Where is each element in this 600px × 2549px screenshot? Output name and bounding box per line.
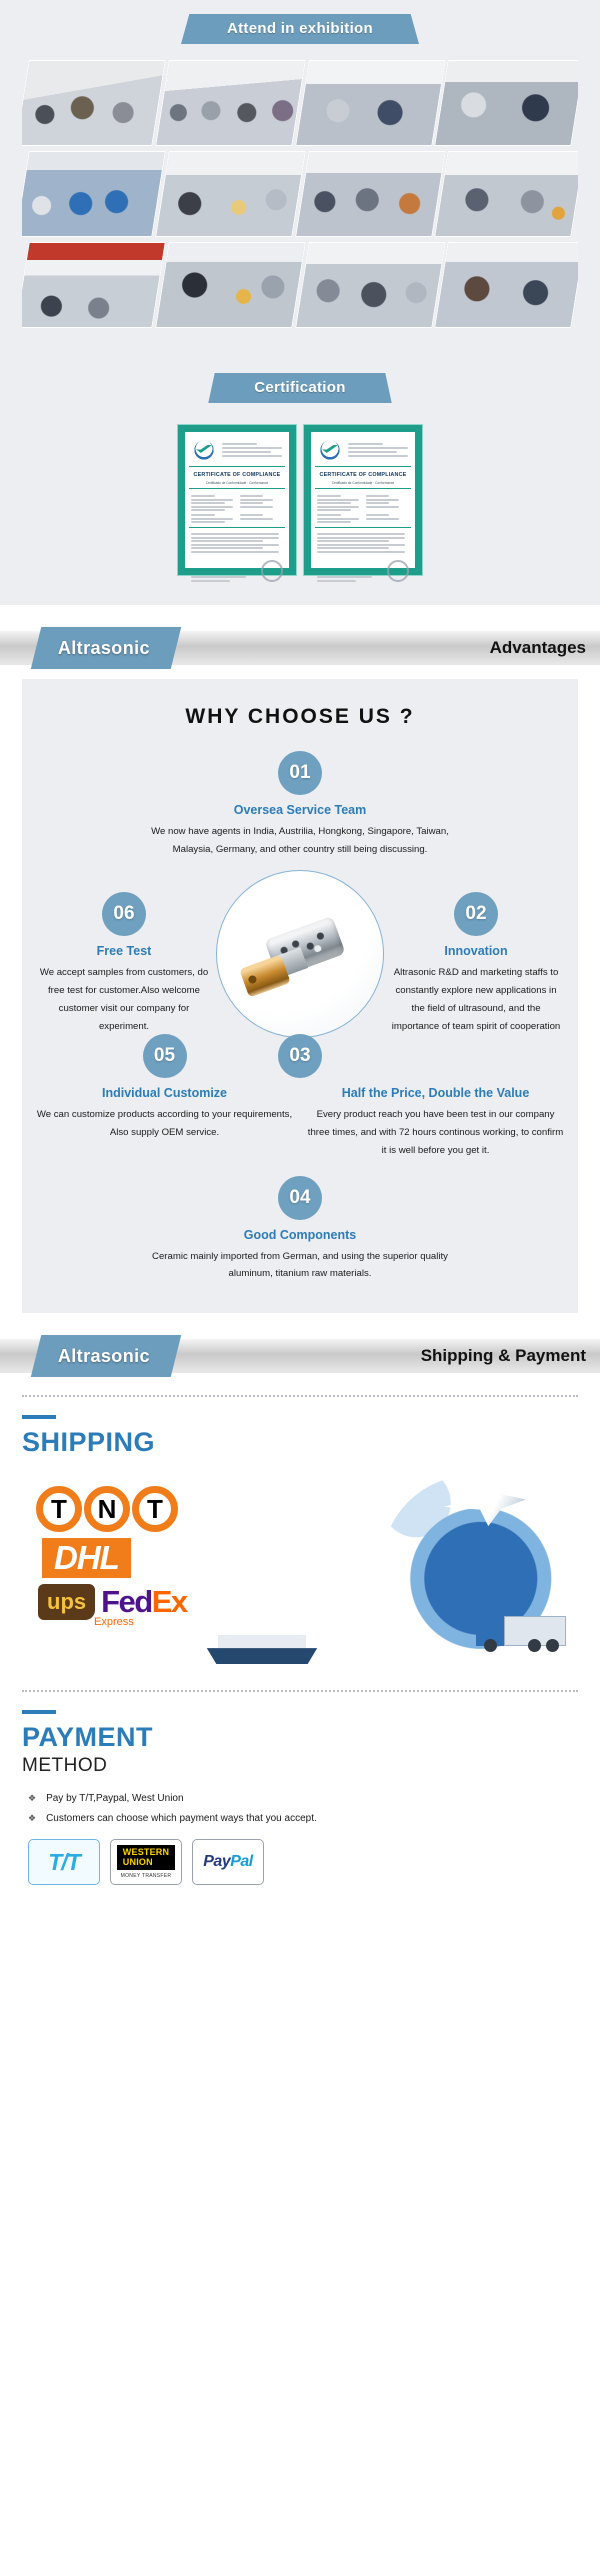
- ups-logo: ups: [38, 1584, 95, 1620]
- certification-section: Certification: [0, 359, 600, 403]
- product-image-circle: [216, 870, 384, 1038]
- feature-01: 01 Oversea Service Team We now have agen…: [150, 751, 450, 858]
- exhibition-photo: [295, 151, 445, 237]
- exhibition-photo: [295, 242, 445, 328]
- payment-bullets: ❖ Pay by T/T,Paypal, West Union ❖ Custom…: [28, 1789, 578, 1829]
- why-choose-us-panel: WHY CHOOSE US ? 01 Oversea Service Team …: [22, 679, 578, 1313]
- shipping-payment-section-header: Altrasonic Shipping & Payment: [0, 1339, 600, 1373]
- payment-bullet-text: Pay by T/T,Paypal, West Union: [46, 1789, 183, 1809]
- certificate-title: CERTIFICATE OF COMPLIANCE: [315, 469, 411, 479]
- certificate-header: [189, 437, 285, 467]
- feature-description: We accept samples from customers, do fre…: [36, 964, 212, 1035]
- payment-method-logos: T/T WESTERN UNION MONEY TRANSFER PayPal: [28, 1839, 578, 1885]
- certificate-fields: [315, 491, 411, 528]
- ce-seal-icon: [189, 437, 219, 463]
- certification-banner: Certification: [0, 373, 600, 403]
- exhibition-photo: [22, 151, 166, 237]
- features-middle-row: 06 Free Test We accept samples from cust…: [36, 864, 564, 1038]
- western-union-line2: UNION: [123, 1858, 169, 1867]
- feature-02: 02 Innovation Altrasonic R&D and marketi…: [388, 864, 564, 1035]
- fedex-text-b: Ex: [152, 1584, 187, 1619]
- exhibition-photo: [155, 60, 305, 146]
- paypal-text-a: Pay: [203, 1853, 230, 1870]
- feature-03-badge-wrap: 03: [36, 1034, 564, 1078]
- exhibition-photo: [434, 242, 578, 328]
- certificate-footer: [189, 558, 285, 584]
- feature-description: We now have agents in India, Austrilia, …: [150, 823, 450, 858]
- certificate-gallery: CERTIFICATE OF COMPLIANCE Certificado de…: [0, 403, 600, 605]
- payment-logo-western-union: WESTERN UNION MONEY TRANSFER: [110, 1839, 182, 1885]
- feature-06: 06 Free Test We accept samples from cust…: [36, 864, 212, 1035]
- diamond-bullet-icon: ❖: [28, 1809, 36, 1829]
- feature-number-badge: 03: [278, 1034, 322, 1078]
- feature-04: 04 Good Components Ceramic mainly import…: [150, 1176, 450, 1283]
- feature-name: Good Components: [150, 1228, 450, 1242]
- ce-seal-icon: [315, 437, 345, 463]
- brand-tag-advantages: Altrasonic: [31, 627, 182, 669]
- diamond-bullet-icon: ❖: [28, 1789, 36, 1809]
- advantages-section-header: Altrasonic Advantages: [0, 631, 600, 665]
- exhibition-banner: Attend in exhibition: [0, 14, 600, 44]
- tnt-letter: T: [132, 1486, 178, 1532]
- certificate-fields: [189, 491, 285, 528]
- truck-icon: [476, 1608, 568, 1652]
- exhibition-section: Attend in exhibition: [0, 0, 600, 44]
- shipping-payment-title: Shipping & Payment: [421, 1346, 600, 1366]
- payment-logo-tt: T/T: [28, 1839, 100, 1885]
- divider: [22, 1395, 578, 1397]
- feature-description: Ceramic mainly imported from German, and…: [150, 1248, 450, 1283]
- exhibition-photo: [155, 242, 305, 328]
- fedex-text-a: Fed: [101, 1584, 152, 1619]
- feature-number-badge: 06: [102, 892, 146, 936]
- feature-description: Every product reach you have been test i…: [307, 1106, 564, 1159]
- brand-name: Altrasonic: [58, 1346, 150, 1367]
- photo-row-3: [22, 242, 578, 328]
- exhibition-photo: [295, 60, 445, 146]
- feature-number-badge: 02: [454, 892, 498, 936]
- certificate-image: CERTIFICATE OF COMPLIANCE Certificado de…: [178, 425, 296, 575]
- shipping-graphic: T N T DHL ups FedEx Express: [22, 1468, 578, 1668]
- feature-name: Half the Price, Double the Value: [307, 1086, 564, 1100]
- certificate-body-text: [189, 530, 285, 556]
- payment-bullet: ❖ Customers can choose which payment way…: [28, 1809, 578, 1829]
- payment-subheading: METHOD: [22, 1755, 578, 1777]
- certificate-header-lines: [348, 437, 411, 463]
- certificate-image: CERTIFICATE OF COMPLIANCE Certificado de…: [304, 425, 422, 575]
- feature-number-badge: 04: [278, 1176, 322, 1220]
- feature-description: Altrasonic R&D and marketing staffs to c…: [388, 964, 564, 1035]
- certification-banner-label: Certification: [208, 373, 391, 403]
- payment-logo-paypal: PayPal: [192, 1839, 264, 1885]
- exhibition-photo: [22, 242, 166, 328]
- shipping-heading: SHIPPING: [22, 1427, 578, 1458]
- feature-description: We can customize products according to y…: [36, 1106, 293, 1141]
- exhibition-photo: [22, 60, 166, 146]
- paypal-text-b: Pal: [230, 1853, 253, 1870]
- exhibition-photo: [434, 151, 578, 237]
- payment-bullet: ❖ Pay by T/T,Paypal, West Union: [28, 1789, 578, 1809]
- fedex-logo: FedEx: [101, 1584, 187, 1620]
- certificate-header: [315, 437, 411, 467]
- tnt-letter: T: [36, 1486, 82, 1532]
- photo-row-1: [22, 60, 578, 146]
- shipping-payment-body: SHIPPING T N T DHL ups: [0, 1395, 600, 1885]
- exhibition-photo: [434, 60, 578, 146]
- certificate-footer: [315, 558, 411, 584]
- exhibition-banner-label: Attend in exhibition: [181, 14, 419, 44]
- exhibition-photo: [155, 151, 305, 237]
- ultrasonic-transducer-horn: [239, 955, 291, 998]
- certificate-body-text: [315, 530, 411, 556]
- exhibition-photo-collage: [0, 44, 600, 359]
- dhl-logo: DHL: [42, 1538, 131, 1578]
- certificate-stamp-icon: [387, 560, 409, 582]
- ups-fedex-row: ups FedEx: [38, 1584, 266, 1620]
- why-choose-us-heading: WHY CHOOSE US ?: [36, 705, 564, 729]
- western-union-badge: WESTERN UNION: [117, 1845, 175, 1870]
- payment-heading: PAYMENT: [22, 1722, 578, 1753]
- brand-name: Altrasonic: [58, 638, 150, 659]
- payment-bullet-text: Customers can choose which payment ways …: [46, 1809, 317, 1829]
- certificate-header-lines: [222, 437, 285, 463]
- feature-name: Innovation: [388, 944, 564, 958]
- advantages-title: Advantages: [490, 638, 600, 658]
- feature-number-badge: 01: [278, 751, 322, 795]
- certificate-subtitle: Certificado de Conformidade · Conformanc…: [315, 481, 411, 489]
- certificate-title: CERTIFICATE OF COMPLIANCE: [189, 469, 285, 479]
- feature-name: Oversea Service Team: [150, 803, 450, 817]
- tnt-logo: T N T: [36, 1486, 266, 1532]
- certificate-stamp-icon: [261, 560, 283, 582]
- tt-label: T/T: [48, 1849, 80, 1876]
- payment-kicker: [22, 1710, 56, 1714]
- feature-name: Individual Customize: [36, 1086, 293, 1100]
- photo-row-2: [22, 151, 578, 237]
- feature-name: Free Test: [36, 944, 212, 958]
- brand-tag-shipping: Altrasonic: [31, 1335, 182, 1377]
- cargo-ship-icon: [202, 1628, 322, 1664]
- western-union-subtext: MONEY TRANSFER: [121, 1873, 172, 1879]
- product-detail-page: Attend in exhibition Certification: [0, 0, 600, 1885]
- shipping-kicker: [22, 1415, 56, 1419]
- paypal-label: PayPal: [203, 1853, 252, 1871]
- carrier-logos: T N T DHL ups FedEx Express: [36, 1486, 266, 1628]
- tnt-letter: N: [84, 1486, 130, 1532]
- divider: [22, 1690, 578, 1692]
- certificate-subtitle: Certificado de Conformidade · Conformanc…: [189, 481, 285, 489]
